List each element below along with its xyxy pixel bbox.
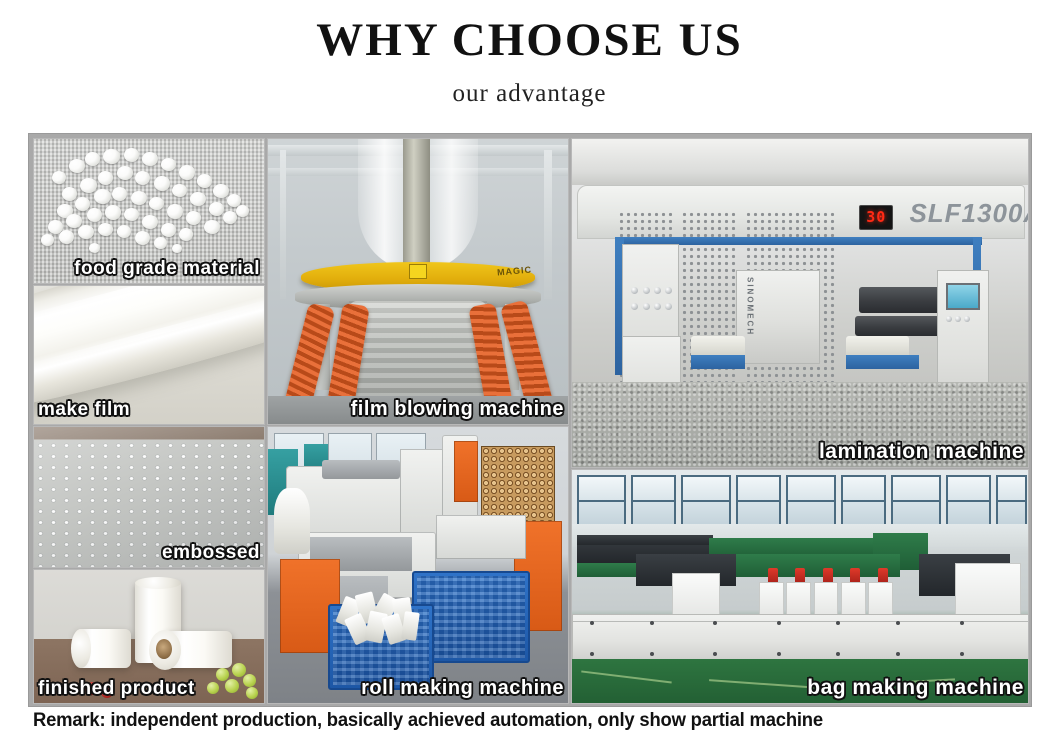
caption-embossed: embossed [162, 542, 260, 564]
page-header: WHY CHOOSE US our advantage [0, 0, 1059, 128]
photo-bag-making-machine [572, 470, 1028, 703]
photo-film-blowing-machine: MAGIC [268, 139, 568, 424]
gallery-cell-food-grade-material[interactable]: food grade material [33, 138, 265, 284]
caption-film-blowing-machine: film blowing machine [351, 398, 564, 421]
gallery-cell-roll-making-machine[interactable]: roll making machine [267, 426, 569, 704]
footer-remark: Remark: independent production, basicall… [33, 710, 1003, 732]
page-title: WHY CHOOSE US [0, 17, 1059, 64]
page-subtitle: our advantage [0, 80, 1059, 108]
gallery-cell-embossed[interactable]: embossed [33, 426, 265, 568]
lamination-led-value: 30 [866, 208, 886, 226]
photo-lamination-machine: 30 SLF1300A SINOMECH [572, 139, 1028, 467]
caption-bag-making-machine: bag making machine [807, 676, 1024, 700]
gallery-cell-lamination-machine[interactable]: 30 SLF1300A SINOMECH [571, 138, 1029, 468]
caption-roll-making-machine: roll making machine [361, 677, 564, 700]
caption-food-grade-material: food grade material [74, 258, 260, 280]
lamination-model-text: SLF1300A [909, 198, 1028, 229]
gallery-cell-make-film[interactable]: make film [33, 285, 265, 425]
gallery-cell-finished-product[interactable]: finished product [33, 569, 265, 704]
photo-roll-making-machine [268, 427, 568, 703]
lamination-led-display: 30 [859, 205, 893, 230]
caption-lamination-machine: lamination machine [819, 440, 1024, 464]
gallery-cell-film-blowing-machine[interactable]: MAGIC film blowing machine [267, 138, 569, 425]
lamination-brand-text: SINOMECH [745, 277, 754, 336]
caption-finished-product: finished product [38, 678, 195, 700]
gallery-cell-bag-making-machine[interactable]: bag making machine [571, 469, 1029, 704]
gallery-grid: food grade material make film embossed [28, 133, 1032, 707]
why-choose-us-page: WHY CHOOSE US our advantage [0, 0, 1059, 749]
caption-make-film: make film [38, 399, 130, 421]
